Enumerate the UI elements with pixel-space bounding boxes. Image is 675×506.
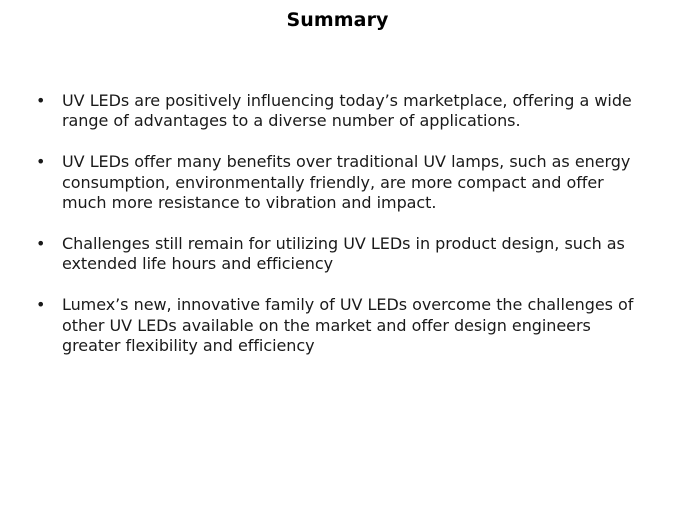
presentation-slide: Summary • UV LEDs are positively influen…: [0, 0, 675, 506]
bullet-point-icon: •: [30, 152, 62, 172]
bullet-item-text: UV LEDs are positively influencing today…: [62, 91, 637, 131]
list-item: • Challenges still remain for utilizing …: [30, 234, 642, 274]
page-title: Summary: [0, 9, 675, 31]
list-item: • Lumex’s new, innovative family of UV L…: [30, 295, 642, 356]
bullet-list: • UV LEDs are positively influencing tod…: [30, 91, 642, 356]
bullet-point-icon: •: [30, 91, 62, 111]
list-item: • UV LEDs are positively influencing tod…: [30, 91, 642, 131]
bullet-point-icon: •: [30, 234, 62, 254]
bullet-item-text: Challenges still remain for utilizing UV…: [62, 234, 637, 274]
bullet-point-icon: •: [30, 295, 62, 315]
list-item: • UV LEDs offer many benefits over tradi…: [30, 152, 642, 213]
bullet-item-text: UV LEDs offer many benefits over traditi…: [62, 152, 637, 213]
bullet-item-text: Lumex’s new, innovative family of UV LED…: [62, 295, 637, 356]
